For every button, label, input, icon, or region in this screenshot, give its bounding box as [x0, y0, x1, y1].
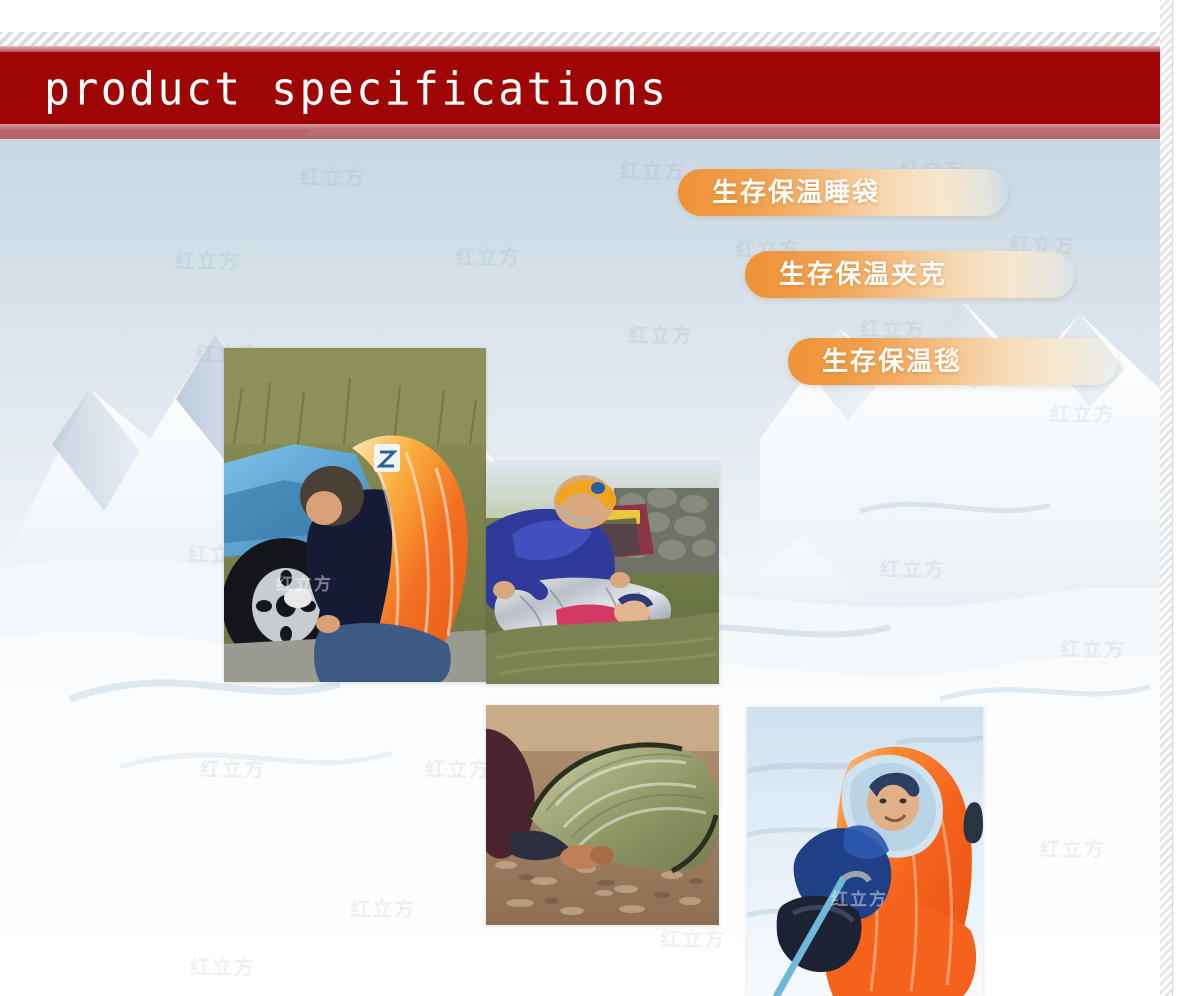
product-label-text: 生存保温睡袋 — [712, 175, 880, 209]
product-label-text: 生存保温夹克 — [779, 257, 947, 291]
product-specifications-page: product specifications 产品规格 — [0, 0, 1180, 996]
photo-rescuer-silver-bag[interactable] — [486, 462, 719, 684]
right-striped-border — [1160, 0, 1172, 996]
product-label-pill-2[interactable]: 生存保温夹克 — [745, 251, 1075, 298]
photo-roadside-orange-bivvy[interactable]: 红立方 — [224, 348, 486, 682]
product-label-pill-3[interactable]: 生存保温毯 — [788, 338, 1118, 385]
page-title-english: product specifications — [44, 60, 669, 119]
product-label-pill-1[interactable]: 生存保温睡袋 — [678, 169, 1008, 216]
top-stripe-band — [0, 32, 1160, 46]
product-label-text: 生存保温毯 — [822, 344, 962, 378]
right-border-edge — [1172, 0, 1173, 996]
photo-snow-orange-sleeping-bag[interactable]: 红立方 — [747, 707, 983, 996]
photo-olive-shelter-ground[interactable] — [486, 705, 719, 925]
